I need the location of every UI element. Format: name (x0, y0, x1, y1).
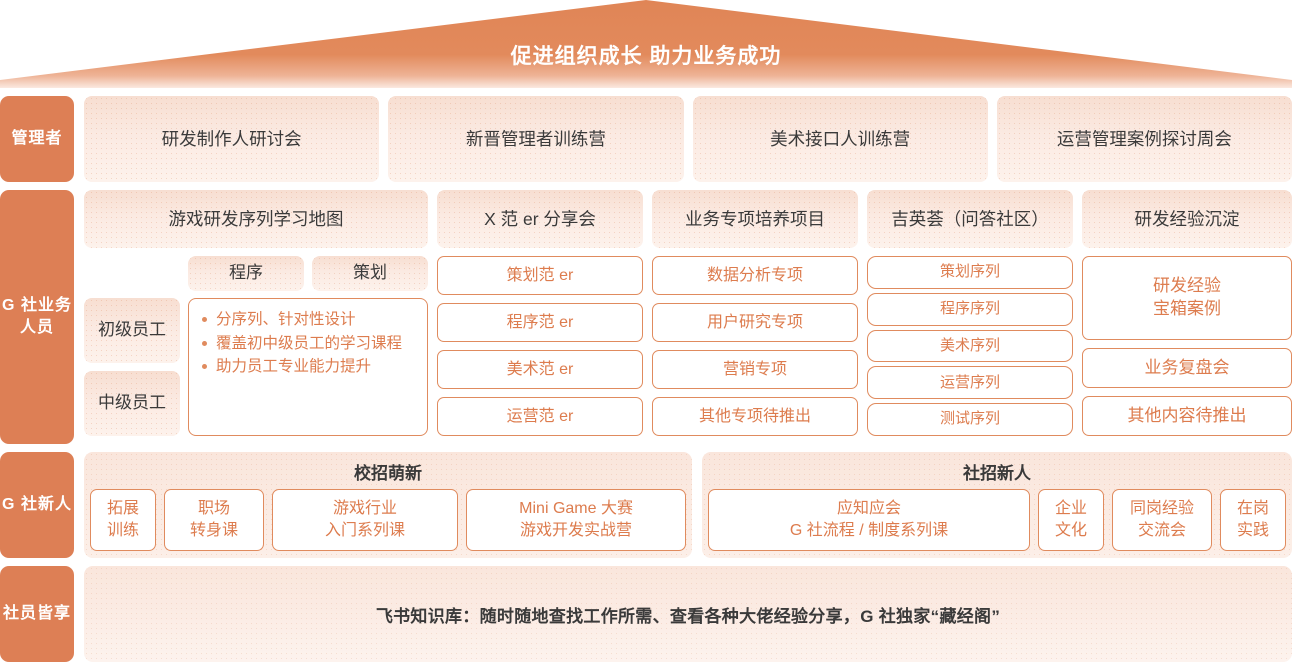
item-experience-treasure[interactable]: 研发经验 宝箱案例 (1082, 256, 1292, 340)
row-business-staff: G 社业务人员 游戏研发序列学习地图 初级员工 中级员工 (0, 190, 1292, 444)
header-fan-er[interactable]: X 范 er 分享会 (437, 190, 643, 248)
level-junior[interactable]: 初级员工 (84, 298, 180, 363)
header-jiying-qa[interactable]: 吉英荟（问答社区） (867, 190, 1073, 248)
row-all-members-content: 飞书知识库：随时随地查找工作所需、查看各种大佬经验分享，G 社独家“藏经阁” (84, 566, 1292, 662)
item-campus-4[interactable]: Mini Game 大赛 游戏开发实战营 (466, 489, 686, 551)
row-label-managers: 管理者 (0, 96, 74, 182)
item-social-2[interactable]: 企业 文化 (1038, 489, 1104, 551)
header-learning-map[interactable]: 游戏研发序列学习地图 (84, 190, 428, 248)
learning-map-bullets: 分序列、针对性设计 覆盖初中级员工的学习课程 助力员工专业能力提升 (188, 298, 428, 436)
row-all-members: 社员皆享 飞书知识库：随时随地查找工作所需、查看各种大佬经验分享，G 社独家“藏… (0, 566, 1292, 662)
group-title-social: 社招新人 (708, 456, 1286, 489)
item-social-3[interactable]: 同岗经验 交流会 (1112, 489, 1212, 551)
row-business-content: 游戏研发序列学习地图 初级员工 中级员工 程序 策划 (84, 190, 1292, 444)
item-fan-er-3[interactable]: 美术范 er (437, 350, 643, 389)
item-social-2-line1: 企业 (1055, 498, 1087, 520)
banner-title: 促进组织成长 助力业务成功 (0, 40, 1292, 70)
column-experience: 研发经验沉淀 研发经验 宝箱案例 业务复盘会 其他内容待推出 (1082, 190, 1292, 444)
tab-design[interactable]: 策划 (312, 256, 428, 291)
item-social-1[interactable]: 应知应会 G 社流程 / 制度系列课 (708, 489, 1030, 551)
item-campus-4-line1: Mini Game 大赛 (519, 498, 633, 520)
knowledge-base-text: 飞书知识库：随时随地查找工作所需、查看各种大佬经验分享，G 社独家“藏经阁” (376, 602, 1000, 627)
item-campus-1-line2: 训练 (107, 520, 139, 542)
column-fan-er: X 范 er 分享会 策划范 er 程序范 er 美术范 er 运营范 er (437, 190, 643, 444)
card-manager-3[interactable]: 美术接口人训练营 (693, 96, 988, 182)
item-campus-3[interactable]: 游戏行业 入门系列课 (272, 489, 458, 551)
item-experience-treasure-line1: 研发经验 (1153, 275, 1221, 298)
header-experience[interactable]: 研发经验沉淀 (1082, 190, 1292, 248)
item-experience-more[interactable]: 其他内容待推出 (1082, 396, 1292, 436)
row-newcomers-content: 校招萌新 拓展 训练 职场 转身课 (84, 452, 1292, 558)
item-fan-er-2[interactable]: 程序范 er (437, 303, 643, 342)
level-list: 初级员工 中级员工 (84, 256, 180, 436)
item-social-1-line1: 应知应会 (790, 498, 948, 520)
item-sequence-5[interactable]: 测试序列 (867, 403, 1073, 436)
discipline-tabs: 程序 策划 (188, 256, 428, 291)
item-sequence-2[interactable]: 程序序列 (867, 293, 1073, 326)
row-newcomers: G 社新人 校招萌新 拓展 训练 (0, 452, 1292, 558)
item-campus-1[interactable]: 拓展 训练 (90, 489, 156, 551)
level-intermediate[interactable]: 中级员工 (84, 371, 180, 436)
item-campus-1-line1: 拓展 (107, 498, 139, 520)
bullet-item: 分序列、针对性设计 (201, 308, 417, 332)
item-sequence-4[interactable]: 运营序列 (867, 366, 1073, 399)
item-social-3-line1: 同岗经验 (1130, 498, 1194, 520)
body-area: 管理者 研发制作人研讨会 新晋管理者训练营 美术接口人训练营 运营管理案例探讨周… (0, 90, 1292, 666)
item-campus-4-line2: 游戏开发实战营 (519, 520, 633, 542)
item-social-4[interactable]: 在岗 实践 (1220, 489, 1286, 551)
row-label-newcomers: G 社新人 (0, 452, 74, 558)
item-campus-2[interactable]: 职场 转身课 (164, 489, 264, 551)
group-campus-recruits: 校招萌新 拓展 训练 职场 转身课 (84, 452, 692, 558)
item-fan-er-1[interactable]: 策划范 er (437, 256, 643, 295)
item-experience-review[interactable]: 业务复盘会 (1082, 348, 1292, 388)
group-title-campus: 校招萌新 (90, 456, 686, 489)
item-campus-3-line1: 游戏行业 (325, 498, 405, 520)
column-jiying-qa: 吉英荟（问答社区） 策划序列 程序序列 美术序列 运营序列 测试序列 (867, 190, 1073, 444)
header-specials[interactable]: 业务专项培养项目 (652, 190, 858, 248)
row-label-all-members: 社员皆享 (0, 566, 74, 662)
item-special-3[interactable]: 营销专项 (652, 350, 858, 389)
item-special-4[interactable]: 其他专项待推出 (652, 397, 858, 436)
row-managers: 管理者 研发制作人研讨会 新晋管理者训练营 美术接口人训练营 运营管理案例探讨周… (0, 96, 1292, 182)
item-sequence-3[interactable]: 美术序列 (867, 330, 1073, 363)
item-campus-3-line2: 入门系列课 (325, 520, 405, 542)
org-training-framework-diagram: 促进组织成长 助力业务成功 管理者 研发制作人研讨会 新晋管理者训练营 美术接口… (0, 0, 1292, 666)
item-special-2[interactable]: 用户研究专项 (652, 303, 858, 342)
group-social-recruits: 社招新人 应知应会 G 社流程 / 制度系列课 企业 (702, 452, 1292, 558)
card-manager-2[interactable]: 新晋管理者训练营 (388, 96, 683, 182)
item-sequence-1[interactable]: 策划序列 (867, 256, 1073, 289)
item-experience-treasure-line2: 宝箱案例 (1153, 298, 1221, 321)
item-fan-er-4[interactable]: 运营范 er (437, 397, 643, 436)
item-social-4-line1: 在岗 (1237, 498, 1269, 520)
item-social-4-line2: 实践 (1237, 520, 1269, 542)
column-specials: 业务专项培养项目 数据分析专项 用户研究专项 营销专项 其他专项待推出 (652, 190, 858, 444)
row-label-business-staff: G 社业务人员 (0, 190, 74, 444)
item-social-3-line2: 交流会 (1130, 520, 1194, 542)
item-campus-2-line2: 转身课 (190, 520, 238, 542)
item-social-2-line2: 文化 (1055, 520, 1087, 542)
bullet-item: 覆盖初中级员工的学习课程 (201, 332, 417, 356)
tab-programming[interactable]: 程序 (188, 256, 304, 291)
card-manager-1[interactable]: 研发制作人研讨会 (84, 96, 379, 182)
item-special-1[interactable]: 数据分析专项 (652, 256, 858, 295)
column-learning-map: 游戏研发序列学习地图 初级员工 中级员工 程序 策划 (84, 190, 428, 444)
banner-roof: 促进组织成长 助力业务成功 (0, 0, 1292, 88)
item-campus-2-line1: 职场 (190, 498, 238, 520)
row-managers-cards: 研发制作人研讨会 新晋管理者训练营 美术接口人训练营 运营管理案例探讨周会 (84, 96, 1292, 182)
card-manager-4[interactable]: 运营管理案例探讨周会 (997, 96, 1292, 182)
item-social-1-line2: G 社流程 / 制度系列课 (790, 520, 948, 542)
bullet-item: 助力员工专业能力提升 (201, 355, 417, 379)
